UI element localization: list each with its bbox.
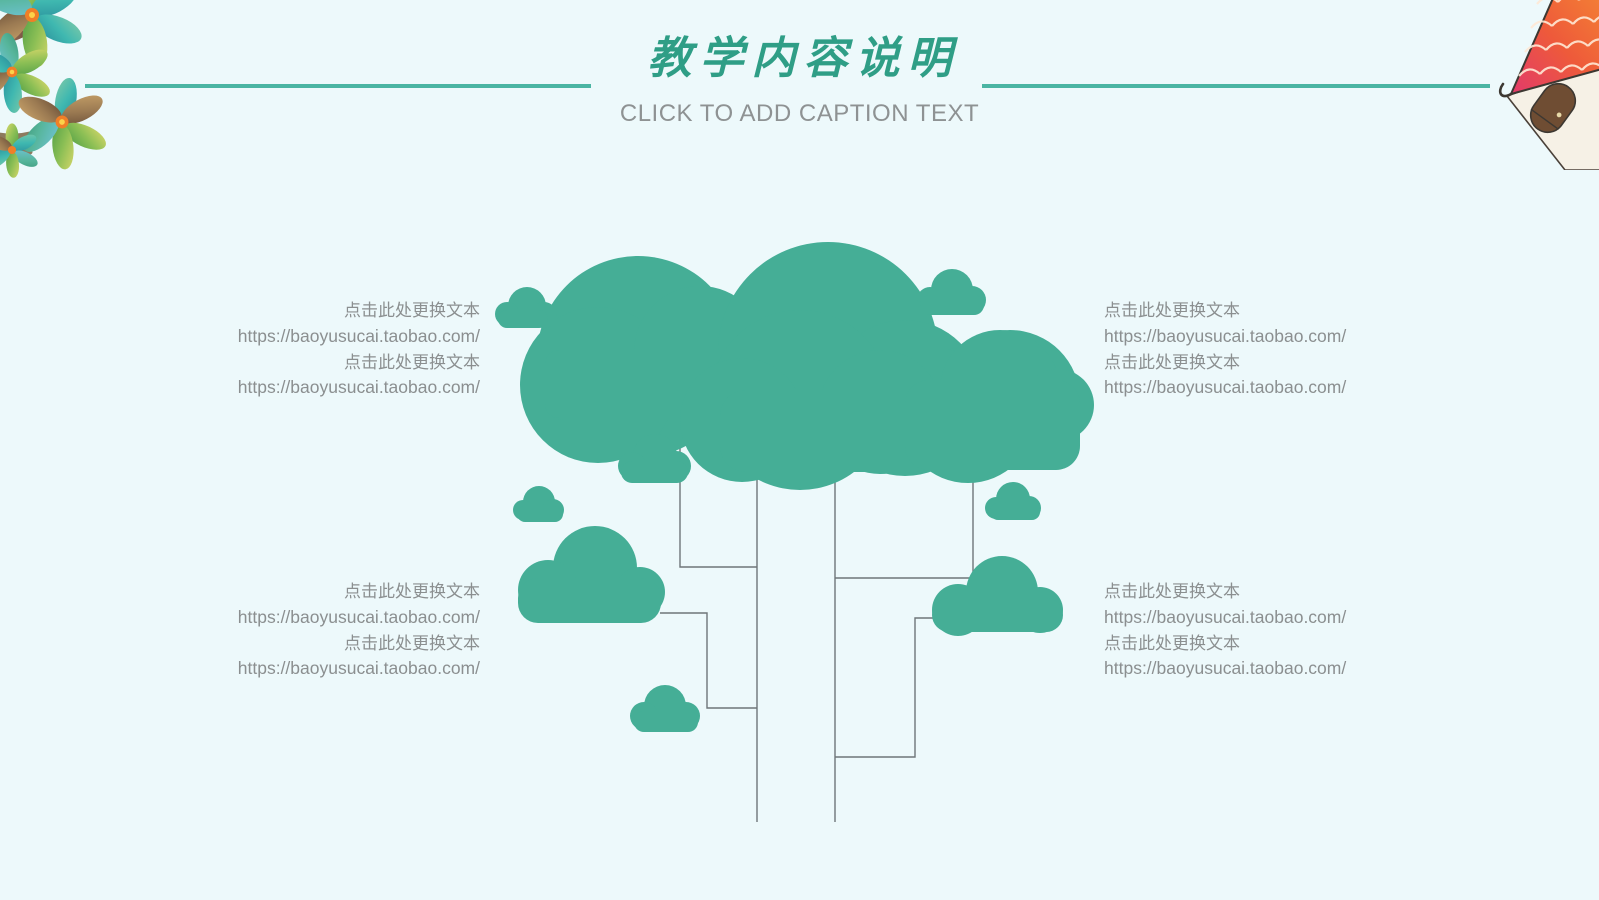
cloud-small-left-b (513, 486, 564, 522)
cloud-canopy-icon (520, 242, 1094, 490)
text-line: 点击此处更换文本 (1104, 579, 1504, 605)
tree-trunk-lines (660, 424, 1013, 822)
text-line: 点击此处更换文本 (100, 350, 480, 376)
text-line: https://baoyusucai.taobao.com/ (1104, 375, 1504, 401)
cloud-node-top-right (985, 482, 1041, 520)
text-line: https://baoyusucai.taobao.com/ (1104, 324, 1504, 350)
page-subtitle[interactable]: CLICK TO ADD CAPTION TEXT (0, 98, 1599, 130)
slide-header: 教学内容说明 CLICK TO ADD CAPTION TEXT (0, 0, 1599, 150)
text-line: https://baoyusucai.taobao.com/ (100, 656, 480, 682)
text-line: https://baoyusucai.taobao.com/ (100, 324, 480, 350)
slide-canvas: 教学内容说明 CLICK TO ADD CAPTION TEXT (0, 0, 1599, 900)
text-line: 点击此处更换文本 (100, 631, 480, 657)
text-block-bottom-right[interactable]: 点击此处更换文本 https://baoyusucai.taobao.com/ … (1104, 579, 1504, 682)
cloud-node-bottom-left (630, 685, 700, 732)
cloud-node-top-left (618, 434, 691, 483)
text-line: https://baoyusucai.taobao.com/ (100, 375, 480, 401)
cloud-node-mid-right (932, 556, 1063, 636)
text-line: 点击此处更换文本 (1104, 350, 1504, 376)
cloud-node-mid-left (518, 526, 665, 623)
text-line: 点击此处更换文本 (100, 579, 480, 605)
page-title[interactable]: 教学内容说明 (0, 30, 1599, 88)
text-line: https://baoyusucai.taobao.com/ (1104, 605, 1504, 631)
text-line: 点击此处更换文本 (1104, 631, 1504, 657)
text-block-top-left[interactable]: 点击此处更换文本 https://baoyusucai.taobao.com/ … (100, 298, 480, 401)
text-line: 点击此处更换文本 (100, 298, 480, 324)
text-block-top-right[interactable]: 点击此处更换文本 https://baoyusucai.taobao.com/ … (1104, 298, 1504, 401)
text-block-bottom-left[interactable]: 点击此处更换文本 https://baoyusucai.taobao.com/ … (100, 579, 480, 682)
text-line: https://baoyusucai.taobao.com/ (1104, 656, 1504, 682)
cloud-small-left-a (495, 287, 557, 328)
cloud-small-right-a (917, 269, 986, 315)
text-line: https://baoyusucai.taobao.com/ (100, 605, 480, 631)
text-line: 点击此处更换文本 (1104, 298, 1504, 324)
